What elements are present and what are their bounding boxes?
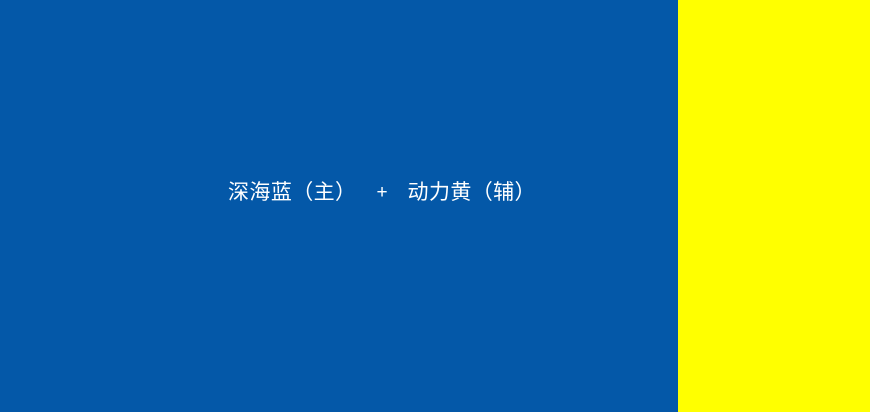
caption-primary-term: 深海蓝（主） <box>228 182 356 204</box>
caption-separator-plus: + <box>376 182 387 205</box>
color-palette-board: 深海蓝（主） + 动力黄（辅） <box>0 0 870 412</box>
caption-secondary-term: 动力黄（辅） <box>408 182 536 204</box>
palette-caption: 深海蓝（主） + 动力黄（辅） <box>0 182 678 204</box>
swatch-secondary-dynamic-yellow <box>678 0 870 412</box>
swatch-primary-deep-sea-blue: 深海蓝（主） + 动力黄（辅） <box>0 0 678 412</box>
